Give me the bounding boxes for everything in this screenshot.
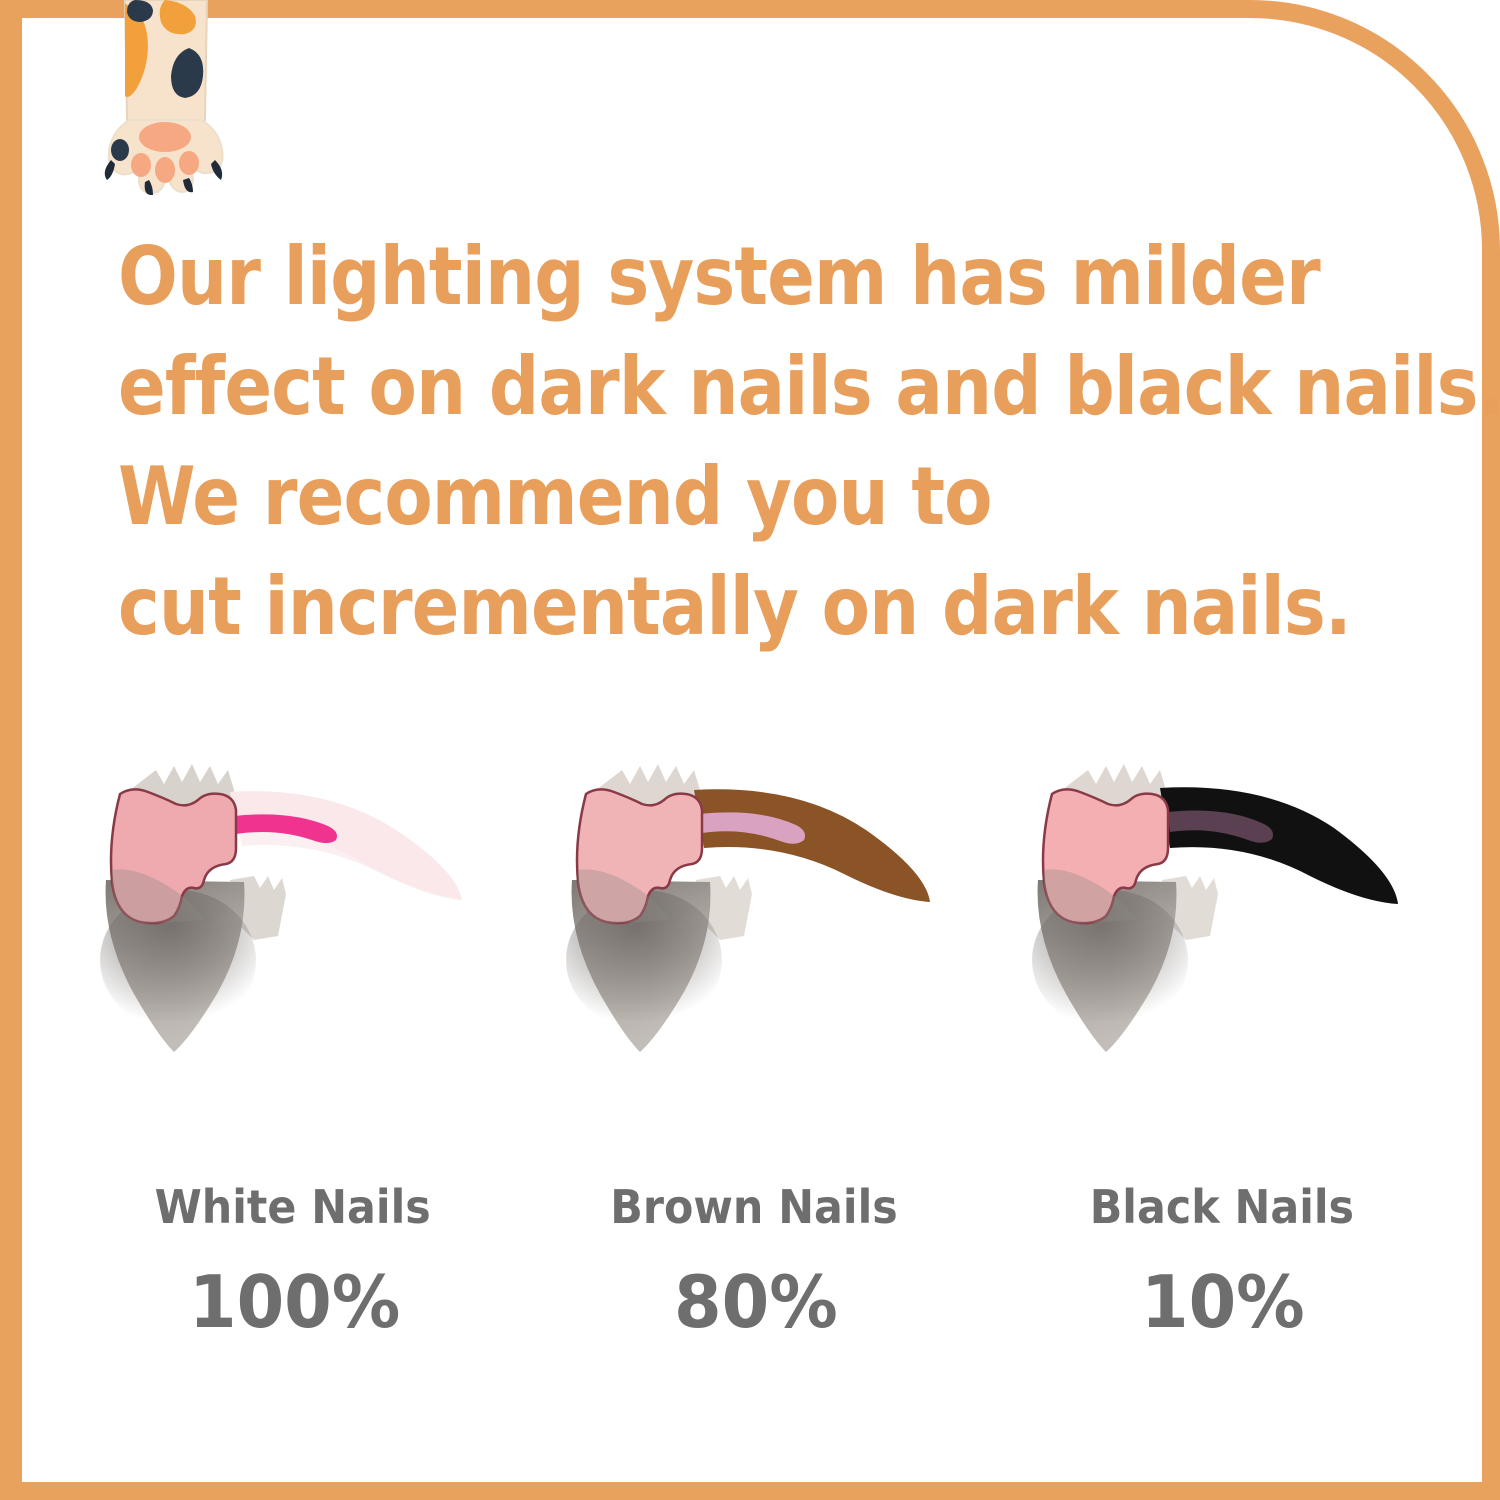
nail-comparison-row: White Nails 100%: [55, 730, 1455, 1370]
headline-line-4: cut incrementally on dark nails.: [118, 552, 1262, 662]
nail-percent-brown: 80%: [533, 1260, 976, 1344]
white-nail-illustration: [78, 730, 498, 1070]
nail-column-brown: Brown Nails 80%: [521, 730, 987, 1370]
nail-label-brown: Brown Nails: [537, 1180, 970, 1234]
headline-line-2: effect on dark nails and black nails.: [118, 332, 1262, 442]
nail-label-black: Black Nails: [1003, 1180, 1436, 1234]
nail-column-white: White Nails 100%: [55, 730, 521, 1370]
headline-line-3: We recommend you to: [118, 442, 1262, 552]
cat-paw-icon: [95, 0, 235, 195]
brown-nail-illustration: [544, 730, 964, 1070]
headline: Our lighting system has milder effect on…: [118, 222, 1262, 662]
frame-left-edge: [0, 0, 22, 1500]
nail-percent-white: 100%: [67, 1260, 510, 1344]
infographic-card: Our lighting system has milder effect on…: [0, 0, 1500, 1500]
headline-line-1: Our lighting system has milder: [118, 222, 1262, 332]
nail-percent-black: 10%: [999, 1260, 1442, 1344]
nail-column-black: Black Nails 10%: [987, 730, 1453, 1370]
nail-label-white: White Nails: [71, 1180, 504, 1234]
black-nail-illustration: [1010, 730, 1430, 1070]
